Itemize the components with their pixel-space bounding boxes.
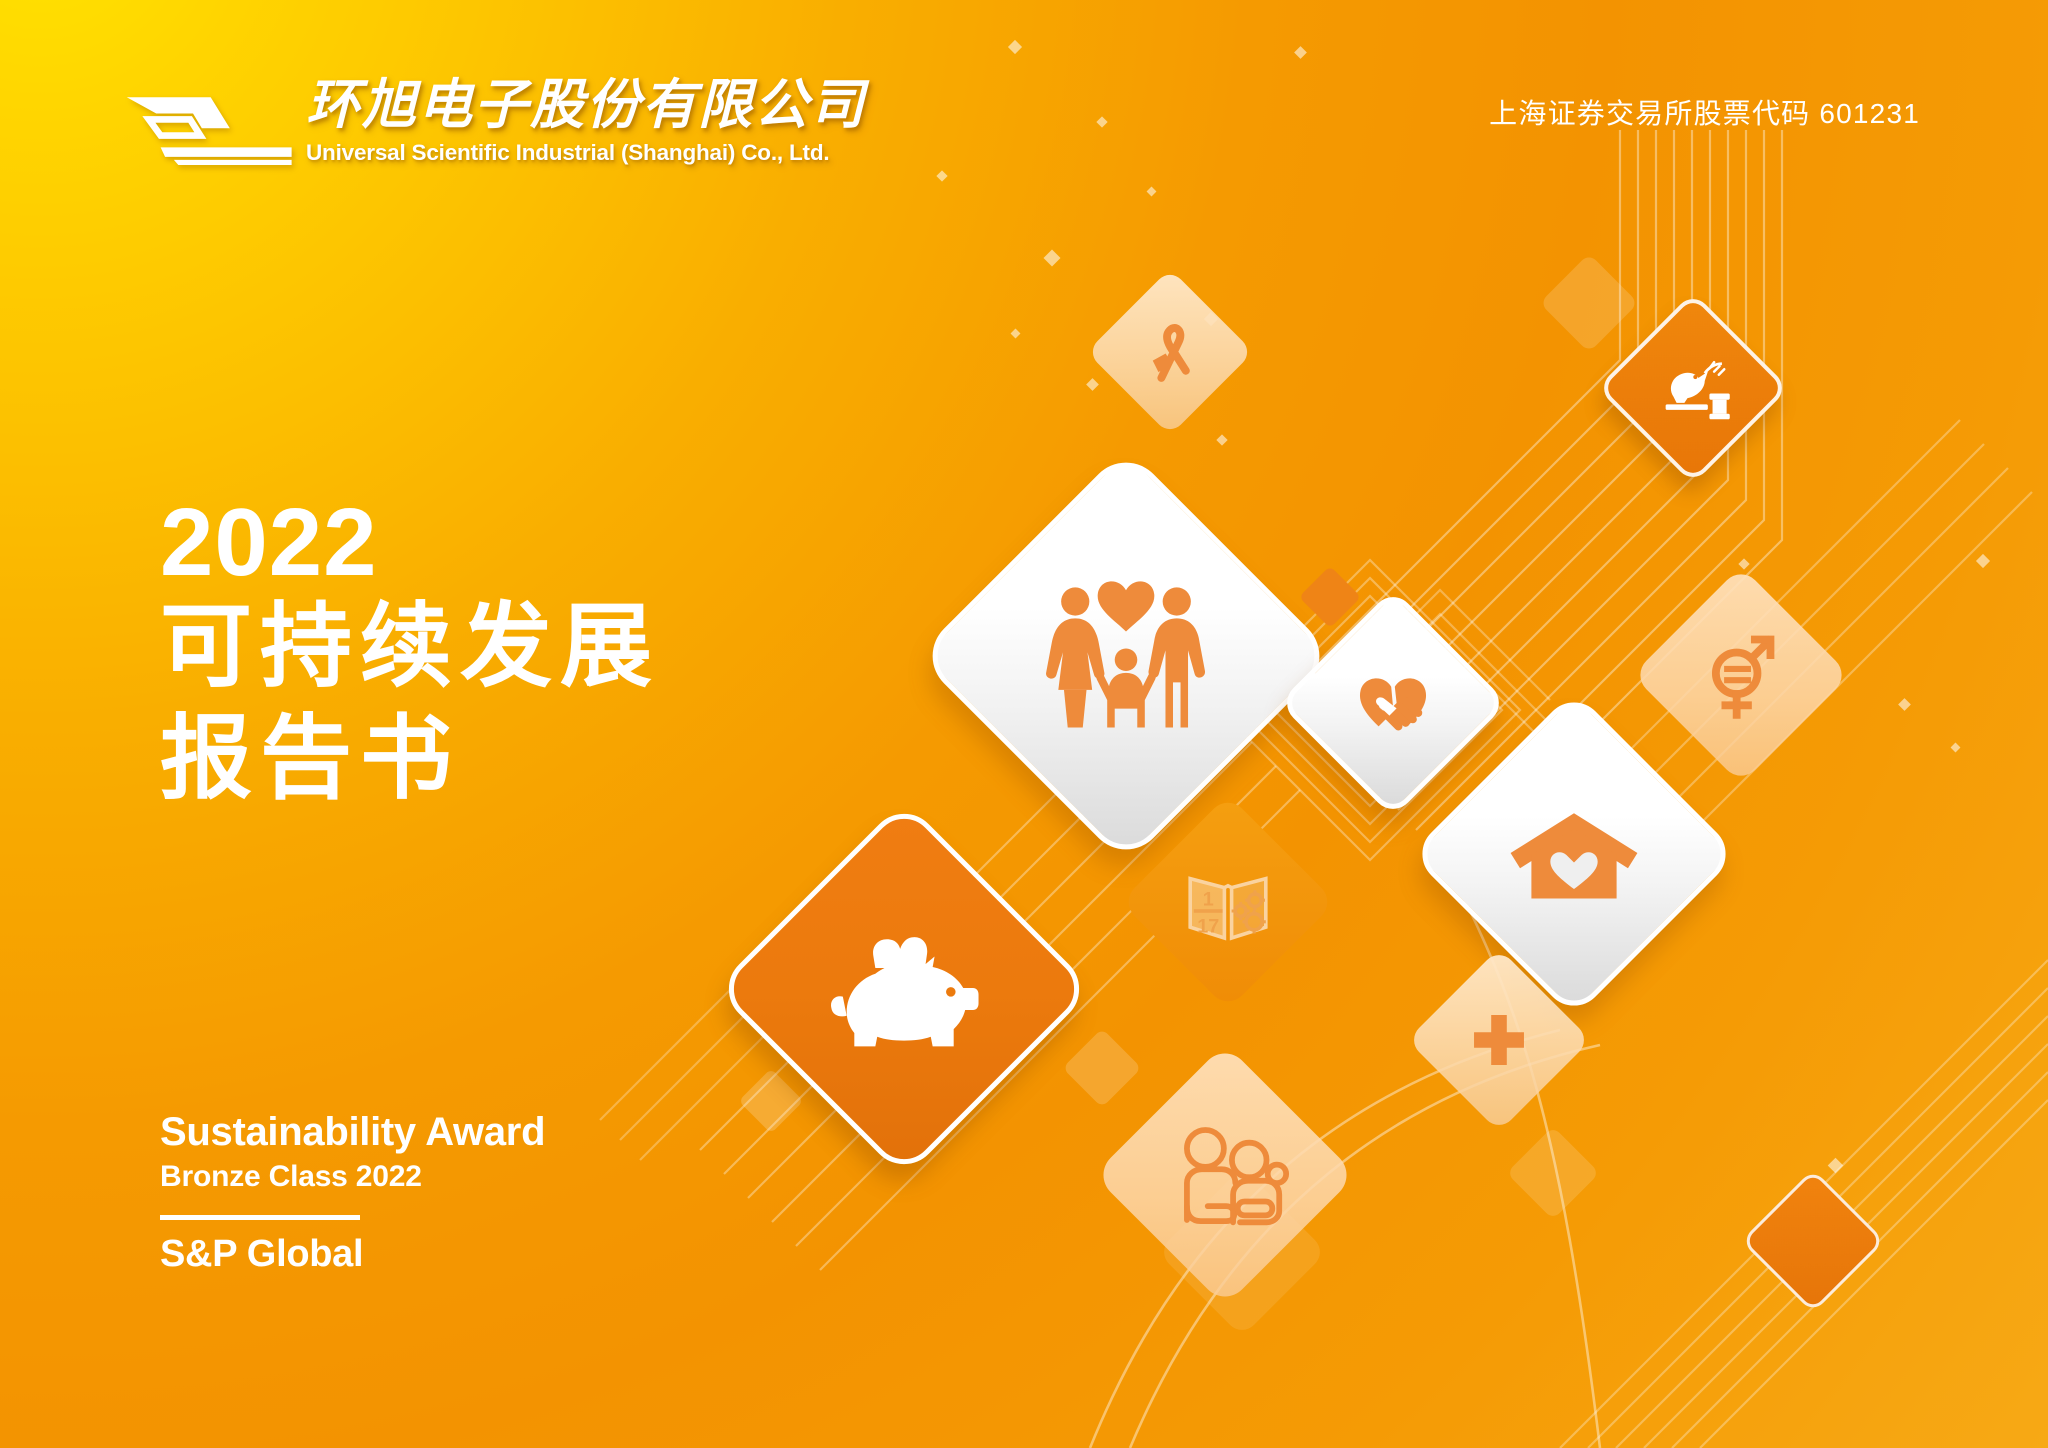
decor-square: [1741, 1169, 1885, 1313]
title-line-2: 报告书: [160, 703, 660, 815]
report-cover: 环旭电子股份有限公司 Universal Scientific Industri…: [0, 0, 2048, 1448]
title-year: 2022: [160, 495, 660, 591]
award-class: Bronze Class 2022: [160, 1160, 545, 1195]
two-people-care-icon: [1093, 1043, 1356, 1306]
cover-header: 环旭电子股份有限公司 Universal Scientific Industri…: [0, 0, 2048, 200]
sustainability-award-badge: Sustainability Award Bronze Class 2022 S…: [160, 1110, 545, 1275]
decor-square: [1506, 1126, 1599, 1219]
medical-cross-icon: [1407, 948, 1591, 1132]
award-issuer: S&P Global: [160, 1234, 545, 1276]
book-fraction-top: 1: [1203, 889, 1214, 911]
award-divider: [160, 1215, 360, 1220]
award-title: Sustainability Award: [160, 1110, 545, 1154]
company-logo[interactable]: 环旭电子股份有限公司 Universal Scientific Industri…: [122, 78, 866, 165]
decor-square: [1062, 1028, 1141, 1107]
awareness-ribbon-icon: [1087, 269, 1254, 436]
decor-square: [1540, 254, 1639, 353]
book-fraction-bottom: 17: [1197, 916, 1219, 938]
decor-square: [1299, 566, 1361, 628]
cover-title: 2022 可持续发展 报告书: [160, 495, 660, 815]
title-line-1: 可持续发展: [160, 591, 660, 703]
company-name-cn: 环旭电子股份有限公司: [306, 78, 866, 132]
family-heart-icon: [917, 447, 1336, 866]
company-name-en: Universal Scientific Industrial (Shangha…: [306, 142, 866, 165]
peace-dove-gavel-icon: [1597, 292, 1789, 484]
book-gears-icon: 1 17: [1121, 795, 1336, 1010]
piggy-bank-icon: [714, 799, 1093, 1178]
stock-code-label: 上海证券交易所股票代码 601231: [1489, 92, 1920, 132]
usi-chevron-logo-icon: [122, 87, 292, 165]
